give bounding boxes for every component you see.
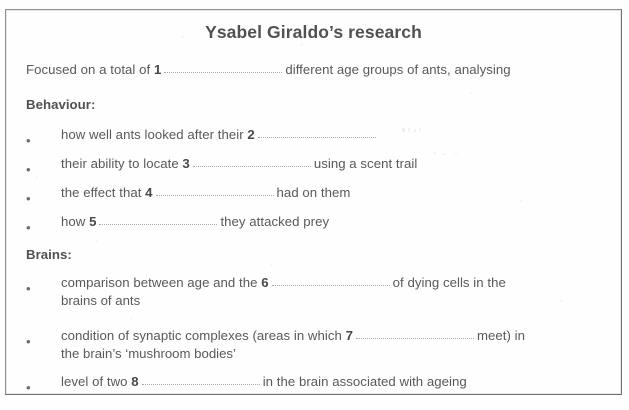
scanned-page: Ysabel Giraldo’s research Focused on a t… xyxy=(0,0,629,410)
bullet-marker: • xyxy=(26,221,31,234)
question-number-4: 4 xyxy=(145,185,152,200)
list-item: how well ants looked after their 2 xyxy=(61,127,379,142)
answer-gap-3[interactable] xyxy=(193,155,311,167)
item-text-before: level of two xyxy=(61,374,128,389)
item-text-before: comparison between age and the xyxy=(61,275,258,290)
answer-gap-4[interactable] xyxy=(156,184,274,196)
item-text-before: their ability to locate xyxy=(61,156,179,171)
list-item: comparison between age and the 6of dying… xyxy=(61,275,506,290)
question-number-6: 6 xyxy=(261,275,268,290)
item-text-before: the effect that xyxy=(61,185,141,200)
list-item: condition of synaptic complexes (areas i… xyxy=(61,328,525,343)
item-text-after: in the brain associated with ageing xyxy=(263,374,467,389)
bullet-marker: • xyxy=(26,134,31,147)
section-heading-brains: Brains: xyxy=(26,247,72,262)
bullet-marker: • xyxy=(26,381,31,394)
bullet-marker: • xyxy=(26,163,31,176)
item-text-before: how xyxy=(61,214,85,229)
answer-gap-5[interactable] xyxy=(99,213,217,225)
list-item-continuation: the brain’s ‘mushroom bodies’ xyxy=(61,346,236,361)
list-item: the effect that 4had on them xyxy=(61,185,350,200)
question-number-8: 8 xyxy=(131,374,138,389)
list-item: their ability to locate 3using a scent t… xyxy=(61,156,417,171)
intro-text-before: Focused on a total of xyxy=(26,62,150,77)
item-text-before: how well ants looked after their xyxy=(61,127,244,142)
item-text-after: they attacked prey xyxy=(220,214,329,229)
question-number-5: 5 xyxy=(89,214,96,229)
item-text-before: condition of synaptic complexes (areas i… xyxy=(61,328,342,343)
bullet-marker: • xyxy=(26,335,31,348)
bullet-marker: • xyxy=(26,282,31,295)
list-item: level of two 8in the brain associated wi… xyxy=(61,374,467,389)
answer-gap-6[interactable] xyxy=(272,274,390,286)
item-text-after: meet) in xyxy=(477,328,525,343)
answer-gap-8[interactable] xyxy=(142,373,260,385)
section-heading-behaviour: Behaviour: xyxy=(26,97,95,112)
question-number-3: 3 xyxy=(182,156,189,171)
list-item-continuation: brains of ants xyxy=(61,293,140,308)
question-number-7: 7 xyxy=(346,328,353,343)
question-number-2: 2 xyxy=(247,127,254,142)
item-text-after: using a scent trail xyxy=(314,156,418,171)
page-title: Ysabel Giraldo’s research xyxy=(6,22,621,43)
list-item: how 5they attacked prey xyxy=(61,214,329,229)
bullet-marker: • xyxy=(26,192,31,205)
intro-text-after: different age groups of ants, analysing xyxy=(285,62,510,77)
item-text-after: had on them xyxy=(277,185,351,200)
answer-gap-2[interactable] xyxy=(258,126,376,138)
intro-line: Focused on a total of 1different age gro… xyxy=(26,62,511,77)
answer-gap-1[interactable] xyxy=(164,61,282,73)
question-number-1: 1 xyxy=(154,62,161,77)
note-completion-box: Ysabel Giraldo’s research Focused on a t… xyxy=(5,9,622,395)
item-text-after: of dying cells in the xyxy=(393,275,506,290)
answer-gap-7[interactable] xyxy=(356,327,474,339)
